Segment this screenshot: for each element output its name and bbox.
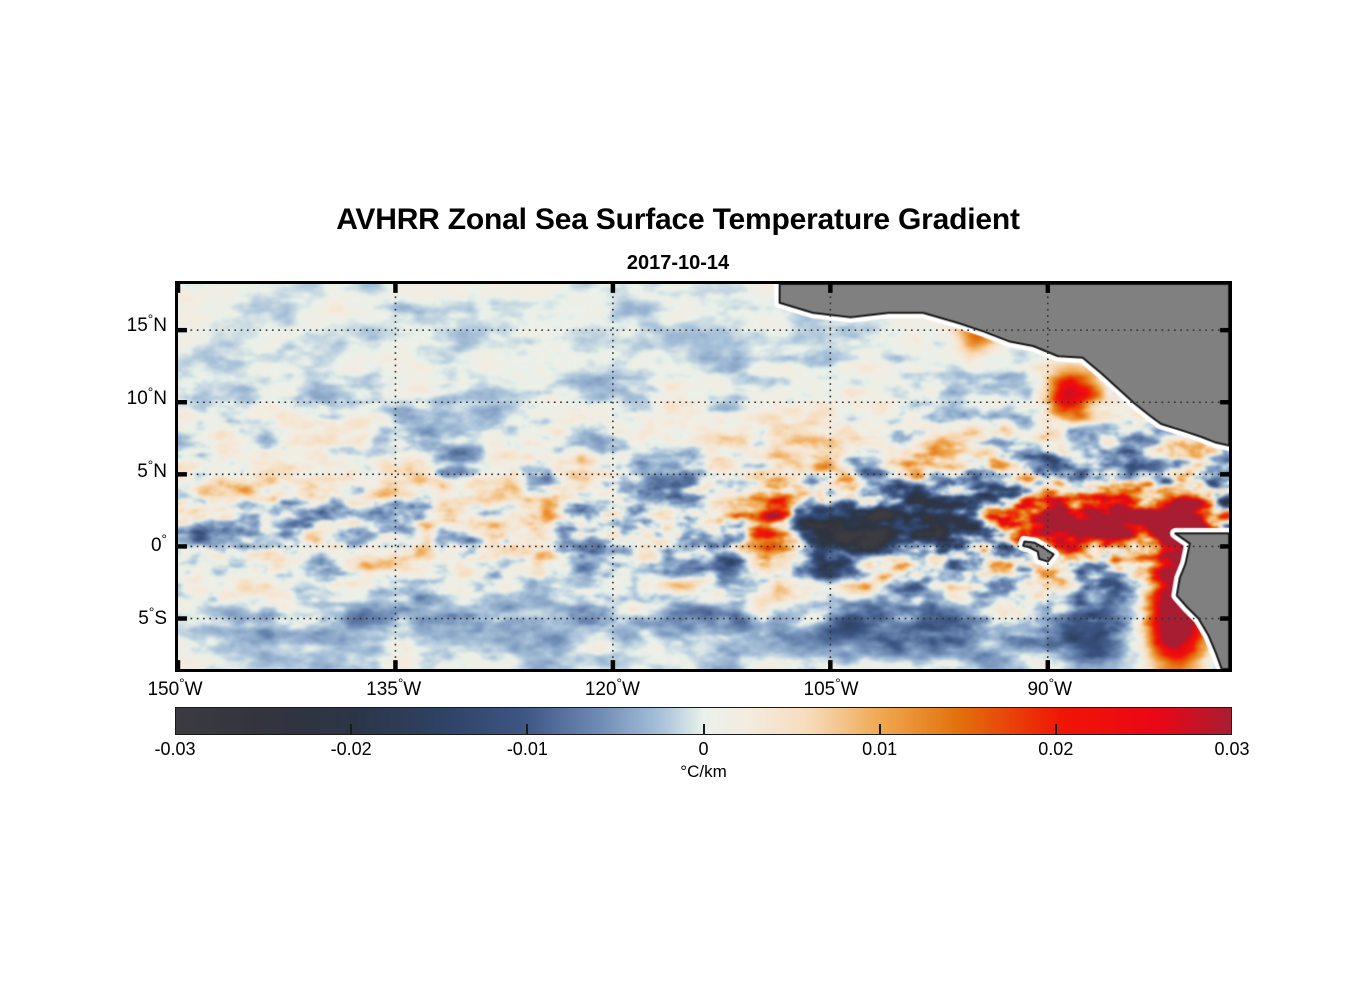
colorbar-tick-label: 0.01 <box>810 739 950 760</box>
colorbar-tick <box>526 724 528 735</box>
x-tick-label: 150°W <box>95 679 255 701</box>
y-tick-label: 15°N <box>47 315 167 337</box>
colorbar-tick <box>879 724 881 735</box>
colorbar-tick-label: 0 <box>634 739 774 760</box>
x-tick-label: 120°W <box>532 679 692 701</box>
colorbar-tick-label: -0.02 <box>281 739 421 760</box>
y-tick-label: 10°N <box>47 388 167 410</box>
page-title: AVHRR Zonal Sea Surface Temperature Grad… <box>0 203 1356 237</box>
y-tick-label: 5°N <box>47 461 167 483</box>
x-tick-label: 135°W <box>314 679 474 701</box>
colorbar-tick <box>1055 724 1057 735</box>
x-axis-labels: 150°W135°W120°W105°W90°W <box>175 679 1232 709</box>
colorbar-tick-label: -0.03 <box>105 739 245 760</box>
figure-canvas: AVHRR Zonal Sea Surface Temperature Grad… <box>0 0 1356 1000</box>
colorbar <box>175 707 1232 735</box>
x-tick-label: 90°W <box>970 679 1130 701</box>
y-tick-label: 5°S <box>47 608 167 630</box>
colorbar-tick-label: 0.03 <box>1162 739 1302 760</box>
y-tick-label: 0° <box>47 535 167 557</box>
map-plot-area <box>175 281 1232 672</box>
x-tick-label: 105°W <box>751 679 911 701</box>
colorbar-tick <box>350 724 352 735</box>
colorbar-tick-label: 0.02 <box>986 739 1126 760</box>
colorbar-unit-label: °C/km <box>175 762 1232 782</box>
colorbar-tick-label: -0.01 <box>457 739 597 760</box>
page-subtitle: 2017-10-14 <box>0 252 1356 275</box>
colorbar-tick <box>703 724 705 735</box>
y-axis-labels: 15°N10°N5°N0°5°S <box>35 281 167 672</box>
sst-gradient-heatmap <box>178 284 1229 669</box>
